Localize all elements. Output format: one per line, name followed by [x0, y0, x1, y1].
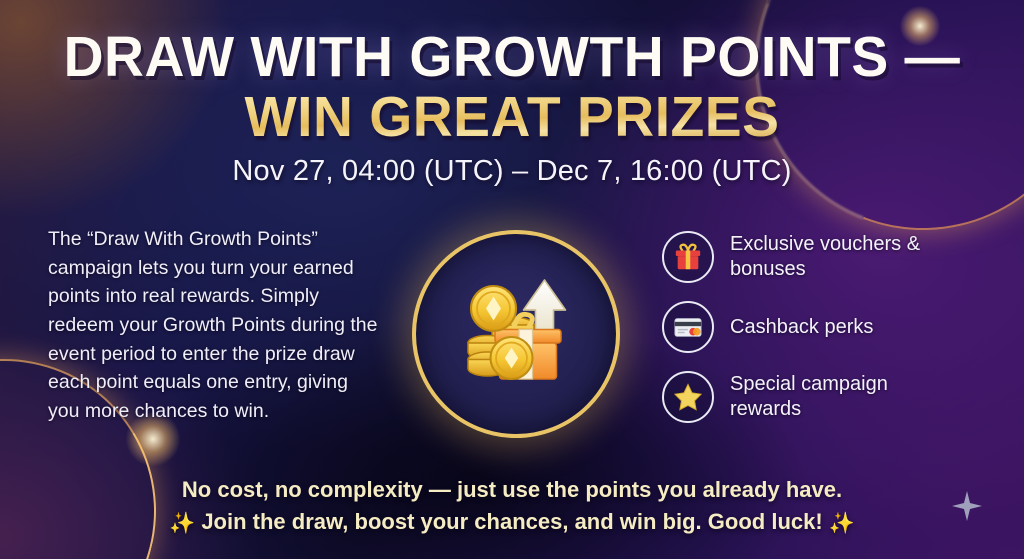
- coin-secondary-icon: [491, 337, 533, 379]
- event-date-range: Nov 27, 04:00 (UTC) – Dec 7, 16:00 (UTC): [0, 155, 1024, 188]
- feature-item-rewards: Special campaign rewards: [662, 362, 962, 432]
- star-icon: [662, 371, 714, 423]
- gift-icon: [662, 231, 714, 283]
- sparkle-left-icon: ✨: [169, 509, 195, 539]
- headline-primary: DRAW WITH GROWTH POINTS —: [15, 28, 1008, 87]
- hero-medallion: [412, 230, 620, 438]
- feature-item-cashback: Cashback perks: [662, 292, 962, 362]
- promo-banner: DRAW WITH GROWTH POINTS — WIN GREAT PRIZ…: [0, 0, 1024, 559]
- coin-primary-icon: [471, 286, 516, 331]
- credit-card-icon: [662, 301, 714, 353]
- feature-label-vouchers: Exclusive vouchers & bonuses: [730, 232, 962, 282]
- headline-secondary: WIN GREAT PRIZES: [15, 88, 1008, 147]
- tagline-line-1: No cost, no complexity — just use the po…: [0, 474, 1024, 506]
- headline-block: DRAW WITH GROWTH POINTS — WIN GREAT PRIZ…: [0, 28, 1024, 188]
- feature-label-cashback: Cashback perks: [730, 315, 873, 340]
- tagline-line-2-wrap: ✨ Join the draw, boost your chances, and…: [0, 506, 1024, 539]
- banner-body: The “Draw With Growth Points” campaign l…: [0, 222, 1024, 452]
- feature-label-rewards: Special campaign rewards: [730, 372, 962, 422]
- sparkle-right-icon: ✨: [829, 509, 855, 539]
- tagline-line-2: Join the draw, boost your chances, and w…: [201, 509, 822, 534]
- coins-gift-growth-icon: [441, 259, 591, 409]
- feature-list: Exclusive vouchers & bonuses Cashback pe…: [662, 222, 962, 432]
- campaign-description: The “Draw With Growth Points” campaign l…: [48, 225, 378, 426]
- tagline-block: No cost, no complexity — just use the po…: [0, 474, 1024, 539]
- feature-item-vouchers: Exclusive vouchers & bonuses: [662, 222, 962, 292]
